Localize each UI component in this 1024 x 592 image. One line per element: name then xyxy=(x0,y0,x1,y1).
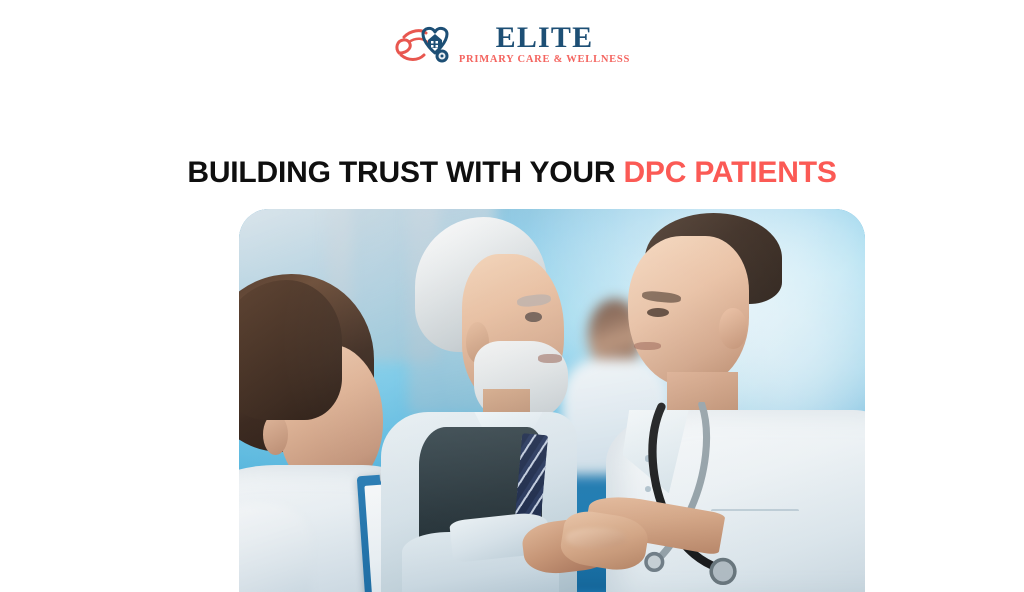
doctor-ear xyxy=(719,308,747,350)
hero-image xyxy=(239,209,865,592)
clinician-coat-fold xyxy=(239,503,311,592)
brand-name: ELITE xyxy=(496,23,594,53)
clinic-scene xyxy=(239,209,865,592)
slide-canvas: ELITE PRIMARY CARE & WELLNESS BUILDING T… xyxy=(0,0,1024,576)
brand-header: ELITE PRIMARY CARE & WELLNESS xyxy=(0,22,1024,66)
brand-tagline: PRIMARY CARE & WELLNESS xyxy=(459,55,630,66)
handshake xyxy=(489,492,702,592)
brand-wordmark: ELITE PRIMARY CARE & WELLNESS xyxy=(459,23,630,66)
page-title: BUILDING TRUST WITH YOUR DPC PATIENTS xyxy=(0,156,1024,190)
patient-mouth xyxy=(538,354,561,363)
headline-lead: BUILDING TRUST WITH YOUR xyxy=(187,156,615,189)
clinician-ear xyxy=(263,414,288,455)
brand-logo-lockup[interactable]: ELITE PRIMARY CARE & WELLNESS xyxy=(394,22,630,66)
clinician-hair-front xyxy=(239,280,342,420)
headline-accent: DPC PATIENTS xyxy=(623,156,836,189)
doctor-eye xyxy=(647,308,669,317)
heart-house-stethoscope-icon xyxy=(394,22,450,66)
doctor-mouth xyxy=(634,342,662,350)
handshake-knuckles xyxy=(566,528,626,548)
